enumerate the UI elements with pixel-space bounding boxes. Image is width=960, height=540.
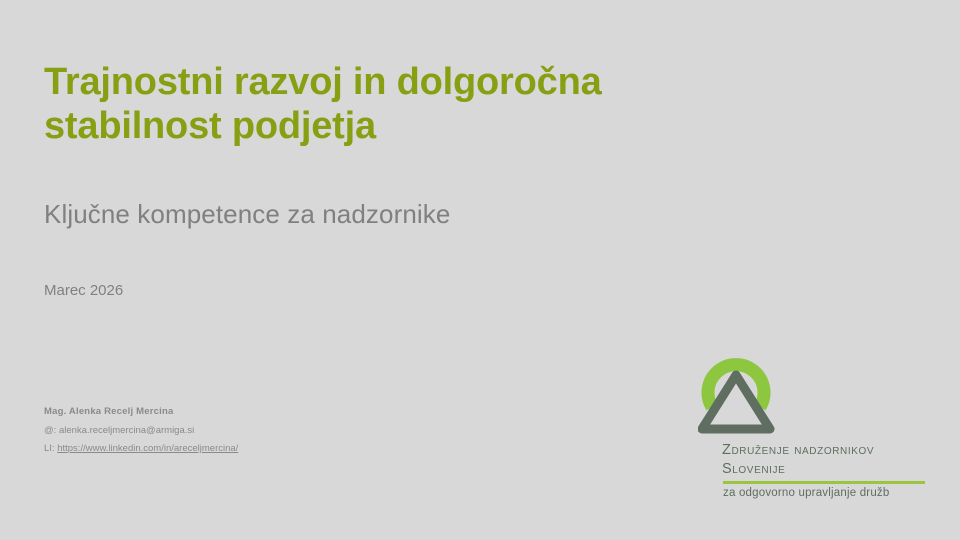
author-linkedin-row: LI: https://www.linkedin.com/in/areceljm… (44, 440, 238, 459)
author-email-row: @: alenka.receljmercina@armiga.si (44, 422, 238, 441)
logo-divider (723, 481, 925, 484)
logo-wordmark-line-2: Slovenije (722, 460, 930, 479)
linkedin-label: LI: (44, 443, 55, 454)
logo-wordmark-line-1: Združenje nadzornikov (722, 441, 930, 460)
logo-tagline: za odgovorno upravljanje družb (723, 487, 933, 499)
page-subtitle: Ključne kompetence za nadzornike (44, 199, 450, 230)
page-title-line-2: stabilnost podjetja (44, 104, 684, 148)
organization-logo: Združenje nadzornikov Slovenije za odgov… (690, 340, 930, 508)
page-title-line-1: Trajnostni razvoj in dolgoročna (44, 60, 684, 104)
linkedin-link[interactable]: https://www.linkedin.com/in/areceljmerci… (57, 443, 238, 454)
page-title: Trajnostni razvoj in dolgoročna stabilno… (44, 60, 684, 149)
author-name: Mag. Alenka Recelj Mercina (44, 403, 238, 422)
presentation-date: Marec 2026 (44, 282, 123, 299)
zns-arc-triangle-icon (698, 345, 784, 437)
slide: Trajnostni razvoj in dolgoročna stabilno… (0, 0, 960, 540)
author-contact-block: Mag. Alenka Recelj Mercina @: alenka.rec… (44, 403, 238, 459)
logo-wordmark: Združenje nadzornikov Slovenije (722, 441, 930, 480)
email-label: @: (44, 425, 56, 436)
author-email[interactable]: alenka.receljmercina@armiga.si (59, 425, 194, 436)
